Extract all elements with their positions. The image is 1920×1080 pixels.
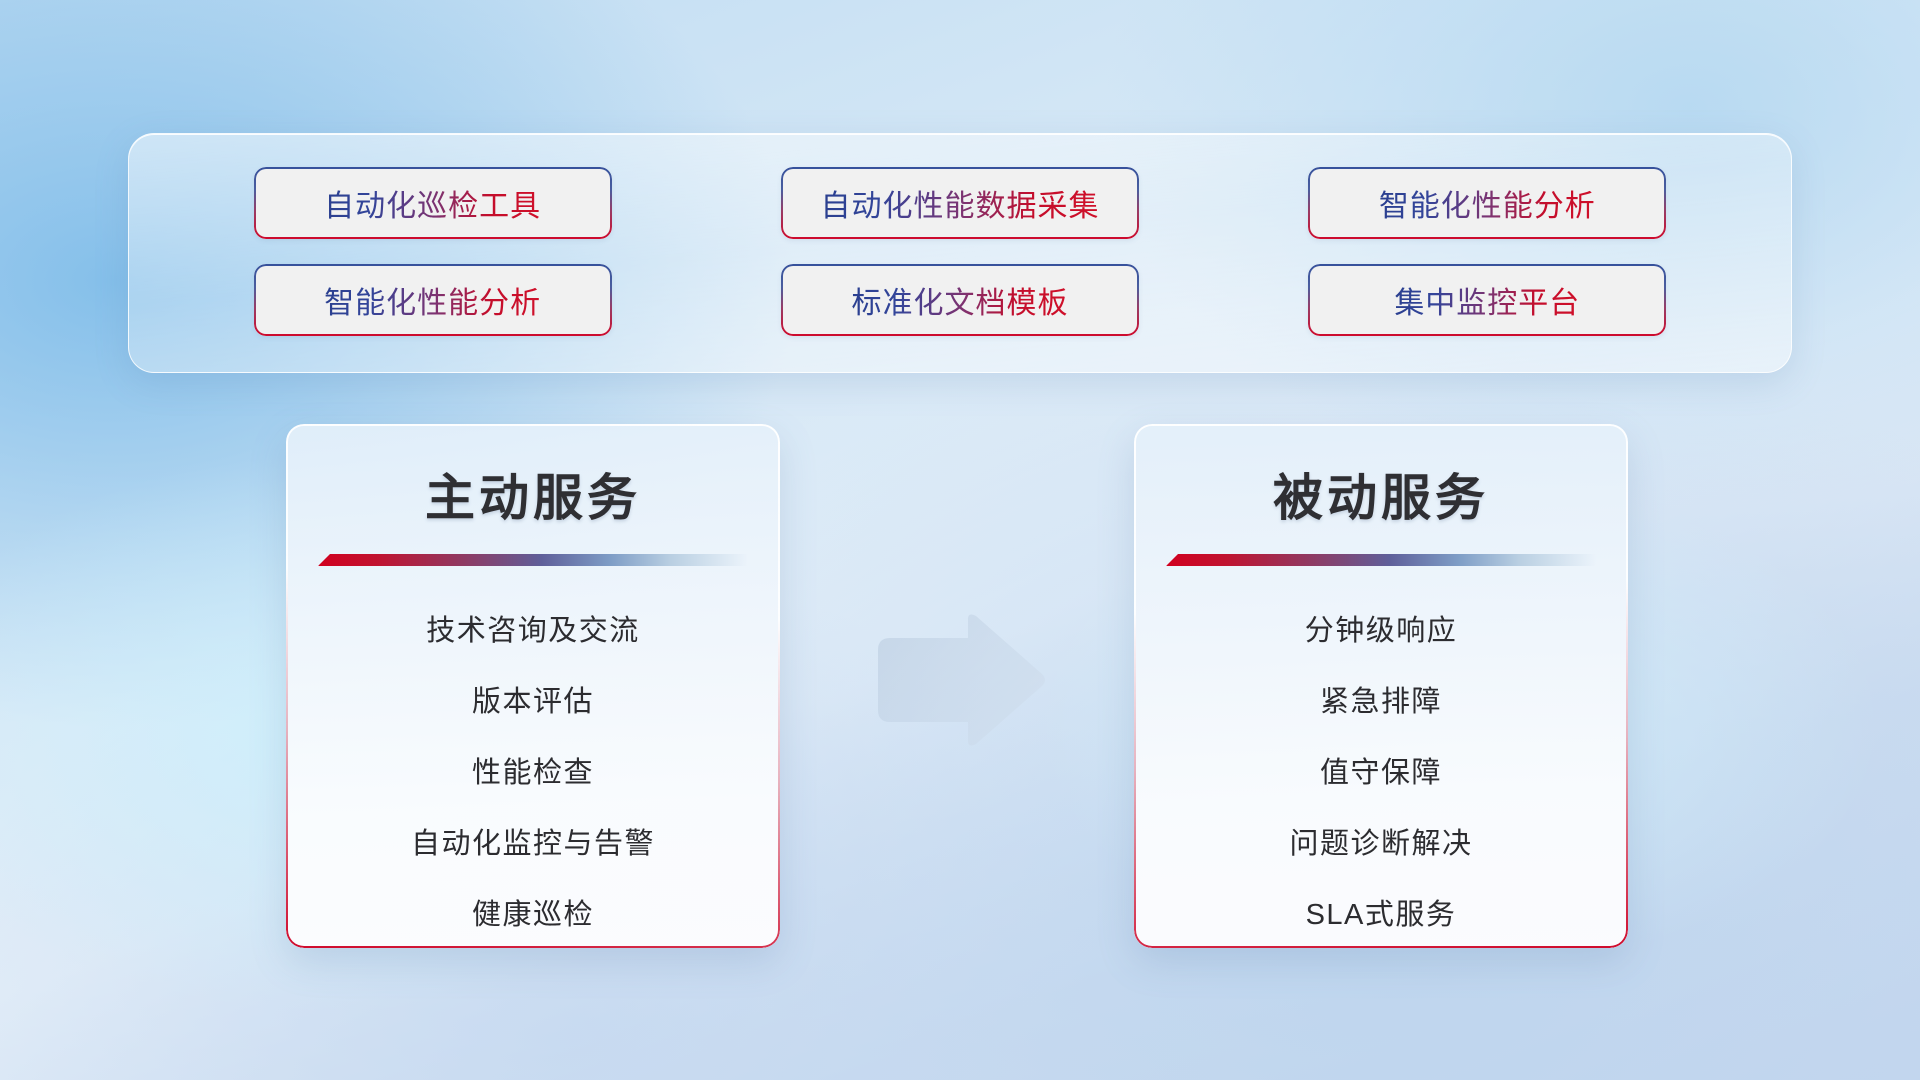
service-item: 问题诊断解决: [1134, 809, 1628, 880]
service-item: 自动化监控与告警: [286, 809, 780, 880]
service-item: 分钟级响应: [1134, 596, 1628, 667]
service-item: 版本评估: [286, 667, 780, 738]
capability-pill-label: 集中监控平台: [1394, 278, 1580, 322]
service-item-list: 技术咨询及交流 版本评估 性能检查 自动化监控与告警 健康巡检: [286, 596, 780, 948]
reactive-service-card: 被动服务 分钟级响应 紧急排障 值守保障 问题诊断解决 SLA式服务: [1134, 424, 1628, 948]
capability-pill[interactable]: 智能化性能分析: [254, 264, 612, 336]
service-item-list: 分钟级响应 紧急排障 值守保障 问题诊断解决 SLA式服务: [1134, 596, 1628, 948]
title-divider: [318, 554, 748, 566]
service-item: 值守保障: [1134, 738, 1628, 809]
service-item: 技术咨询及交流: [286, 596, 780, 667]
title-divider: [1166, 554, 1596, 566]
capability-panel: 自动化巡检工具 自动化性能数据采集 智能化性能分析 智能化性能分析 标准化文档模…: [128, 133, 1792, 373]
service-item: 健康巡检: [286, 880, 780, 948]
capability-pill[interactable]: 自动化巡检工具: [254, 167, 612, 239]
arrow-right-icon: [872, 612, 1048, 748]
capability-pill[interactable]: 自动化性能数据采集: [781, 167, 1139, 239]
capability-pill[interactable]: 智能化性能分析: [1308, 167, 1666, 239]
card-title: 被动服务: [1134, 458, 1628, 530]
capability-pill[interactable]: 标准化文档模板: [781, 264, 1139, 336]
capability-pill-label: 标准化文档模板: [851, 278, 1068, 322]
service-item: SLA式服务: [1134, 880, 1628, 948]
capability-pill-label: 自动化巡检工具: [324, 181, 541, 225]
capability-pill-label: 智能化性能分析: [1379, 181, 1596, 225]
proactive-service-card: 主动服务 技术咨询及交流 版本评估 性能检查 自动化监控与告警 健康巡检: [286, 424, 780, 948]
capability-pill[interactable]: 集中监控平台: [1308, 264, 1666, 336]
service-item: 性能检查: [286, 738, 780, 809]
slide-canvas: 自动化巡检工具 自动化性能数据采集 智能化性能分析 智能化性能分析 标准化文档模…: [0, 0, 1920, 1080]
divider-bar: [318, 554, 748, 566]
service-item: 紧急排障: [1134, 667, 1628, 738]
capability-pill-label: 智能化性能分析: [324, 278, 541, 322]
divider-bar: [1166, 554, 1596, 566]
capability-pill-label: 自动化性能数据采集: [820, 181, 1099, 225]
card-title: 主动服务: [286, 458, 780, 530]
